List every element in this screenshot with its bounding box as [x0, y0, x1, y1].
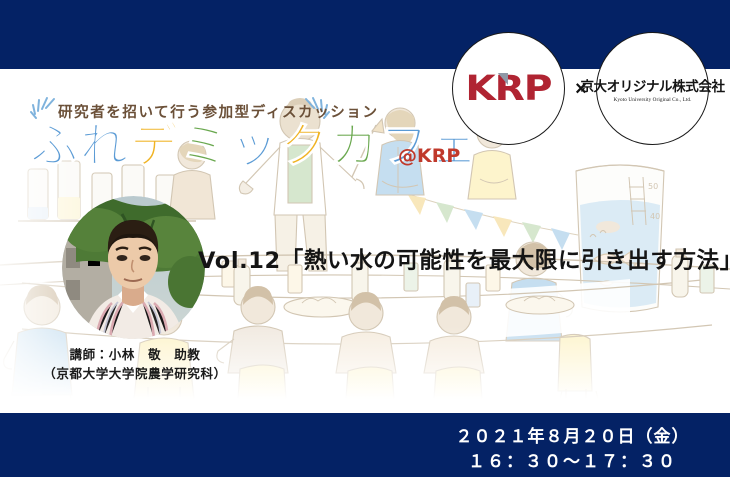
krp-logo: KRP	[452, 32, 565, 145]
lecture-title: Vol.12「熱い水の可能性を最大限に引き出す方法」	[198, 243, 730, 275]
brand-seg-0: ふれ	[30, 118, 130, 174]
speaker-portrait-photo	[62, 196, 205, 339]
ku-logo-en-text: Kyoto University Original Co., Ltd.	[614, 97, 692, 103]
venue-tag: @KRP	[398, 145, 460, 167]
event-poster: 50 40	[0, 0, 730, 477]
brand-seg-3: ッ	[230, 118, 280, 174]
event-date: ２０２１年８月２０日（金）	[430, 425, 715, 450]
brand-seg-1: デ	[130, 118, 180, 174]
speaker-name-line: 講師：小林 敬 助教	[10, 345, 260, 364]
speaker-caption: 講師：小林 敬 助教 （京都大学大学院農学研究科）	[10, 345, 260, 384]
ku-logo-jp-text: 京大オリジナル株式会社	[580, 75, 724, 95]
event-time: １６：３０〜１７：３０	[430, 450, 715, 475]
brand-seg-4: ク	[280, 118, 330, 174]
kyoto-university-original-logo: 京大オリジナル株式会社 Kyoto University Original Co…	[596, 32, 709, 145]
brand-seg-5: カ	[330, 118, 380, 174]
event-datetime: ２０２１年８月２０日（金） １６：３０〜１７：３０	[430, 425, 715, 474]
speaker-affiliation-line: （京都大学大学院農学研究科）	[10, 364, 260, 383]
krp-logo-mark: KRP	[466, 69, 552, 109]
brand-seg-2: ミ	[180, 118, 230, 174]
krp-logo-triangle-icon	[498, 73, 508, 85]
